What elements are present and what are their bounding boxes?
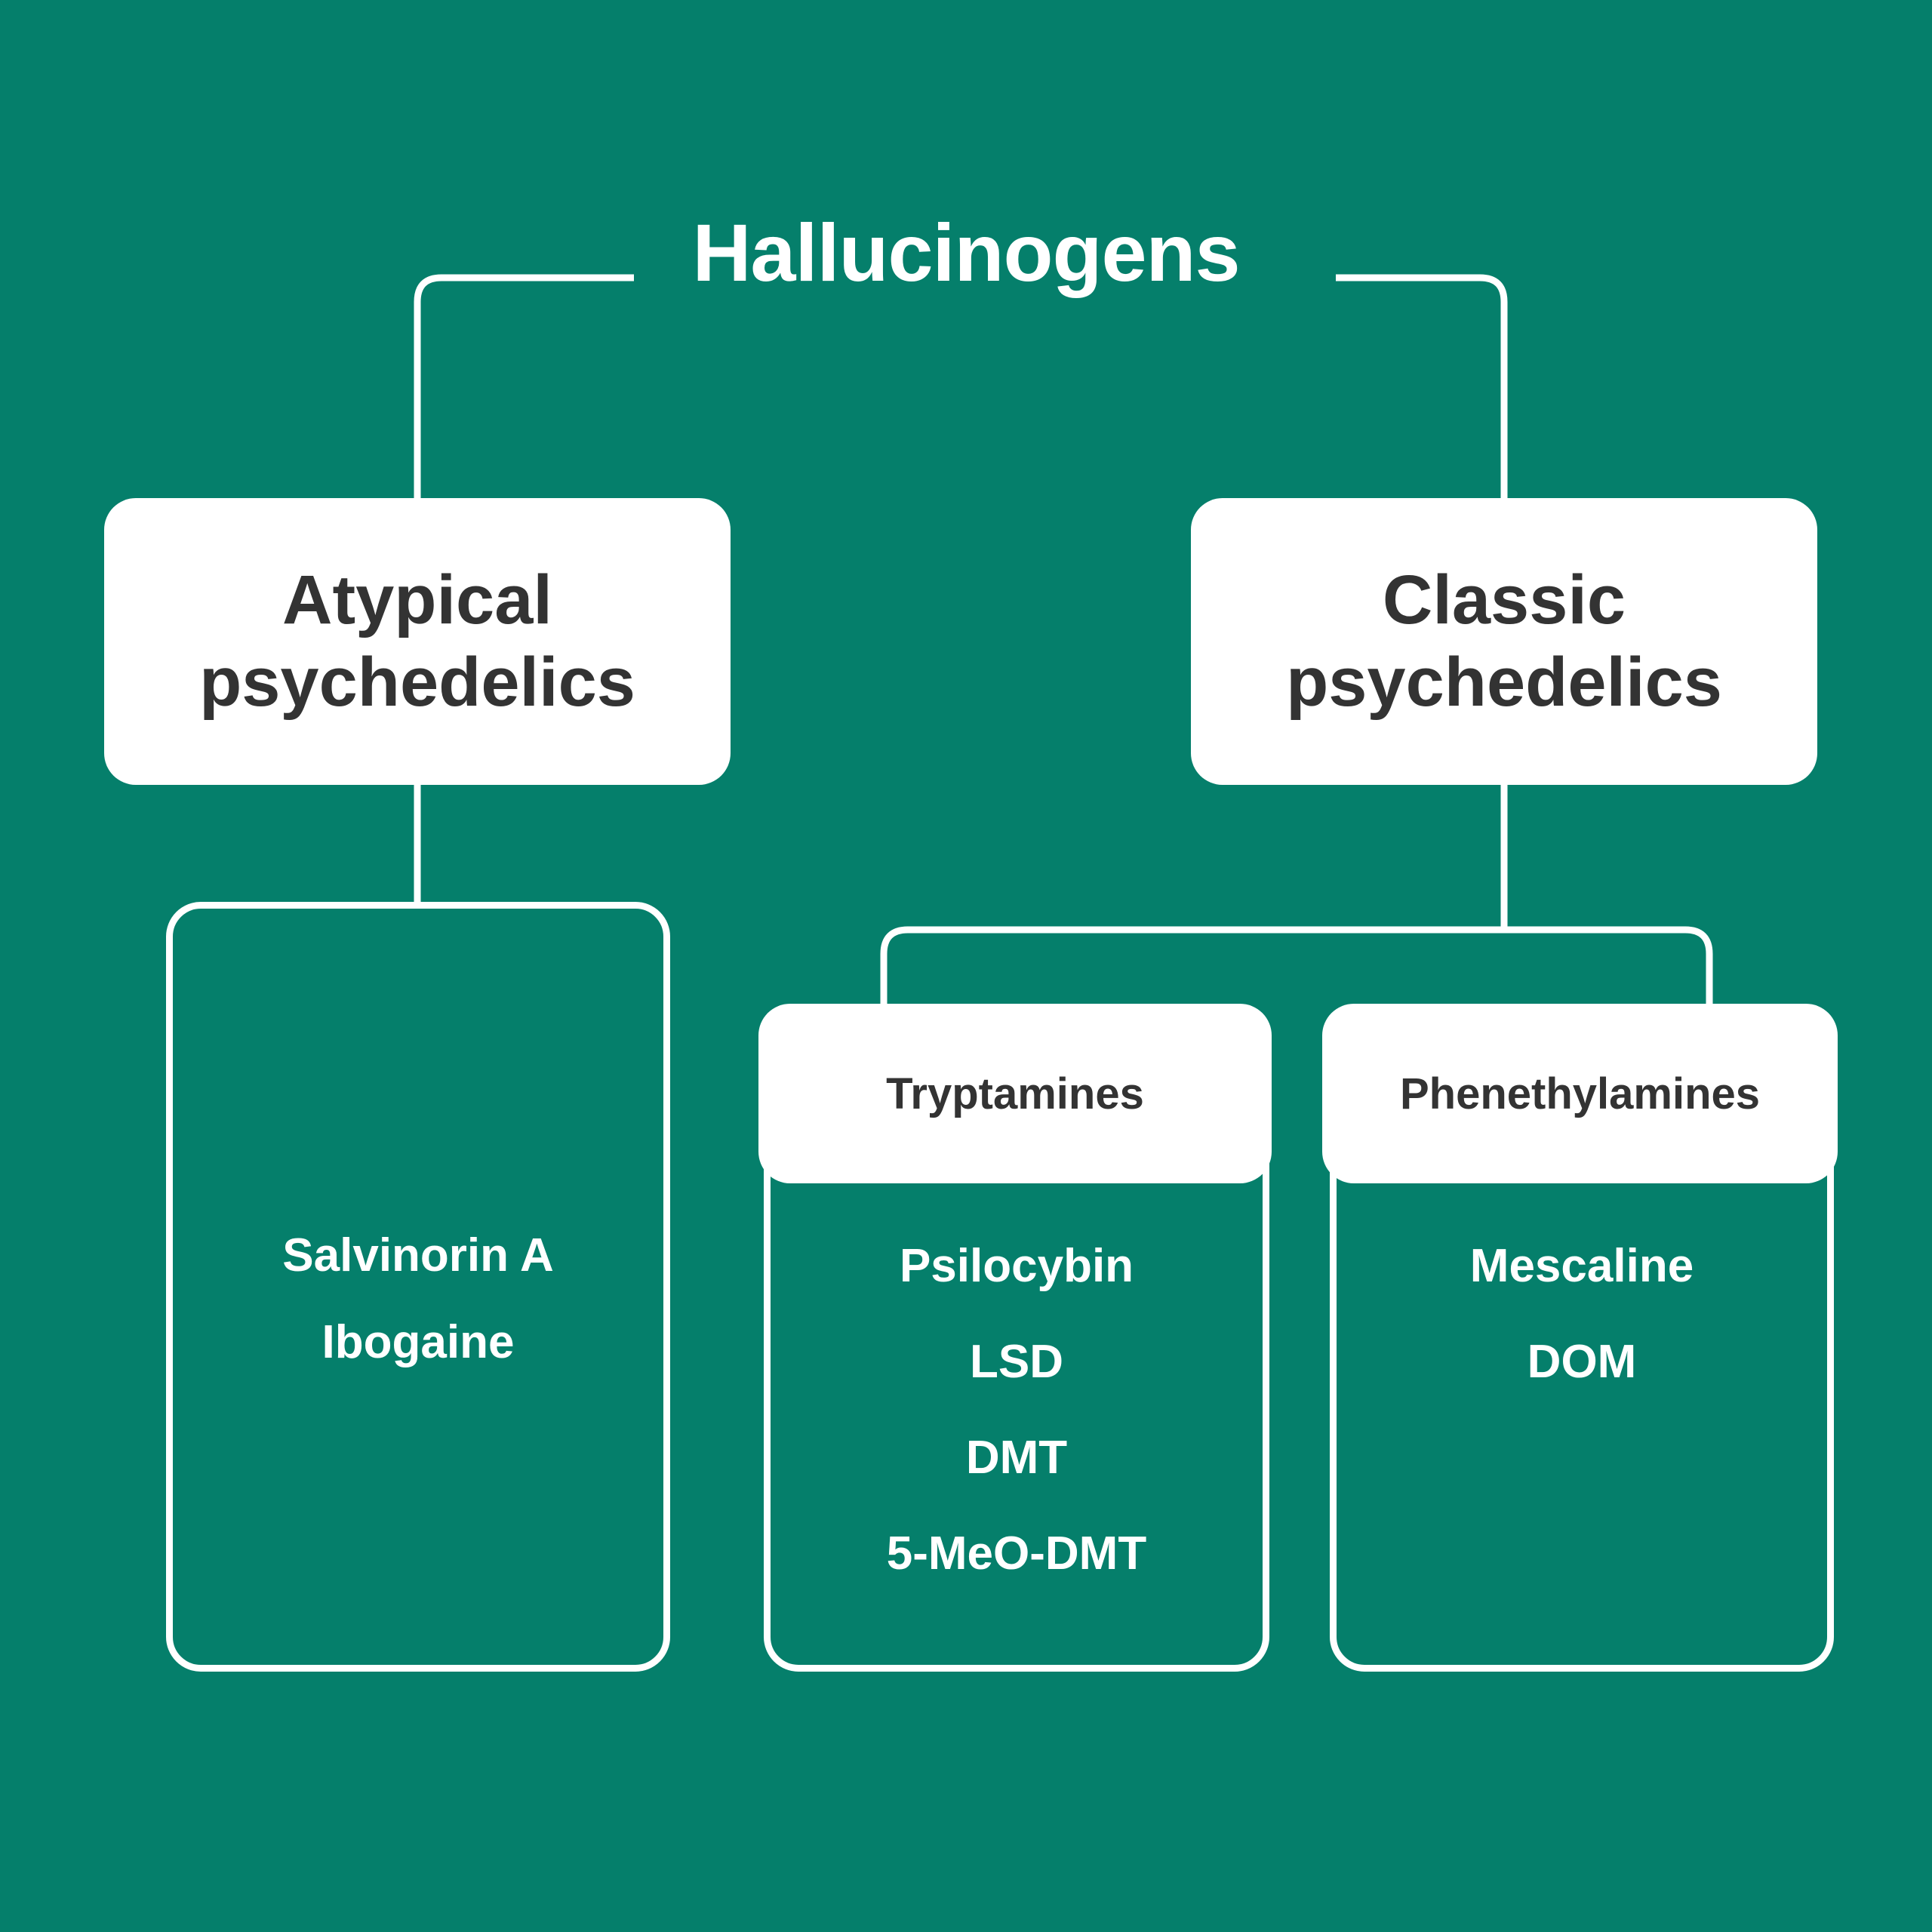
list-phenethylamines-items: Mescaline DOM	[1330, 1239, 1834, 1389]
node-tryptamines-label: Tryptamines	[886, 1069, 1144, 1119]
node-atypical-psychedelics-label: Atypical psychedelics	[124, 559, 711, 723]
node-tryptamines[interactable]: Tryptamines	[758, 1004, 1272, 1183]
connector-classic-to-tryptamines	[884, 930, 1504, 1004]
node-phenethylamines[interactable]: Phenethylamines	[1322, 1004, 1838, 1183]
list-atypical-items: Salvinorin A Ibogaine	[166, 1229, 670, 1369]
node-phenethylamines-label: Phenethylamines	[1400, 1069, 1760, 1119]
list-item: Mescaline	[1330, 1239, 1834, 1293]
list-item: DMT	[764, 1431, 1269, 1484]
page-title: Hallucinogens	[589, 210, 1343, 295]
node-classic-psychedelics[interactable]: Classic psychedelics	[1191, 498, 1817, 785]
list-tryptamines-items: Psilocybin LSD DMT 5-MeO-DMT	[764, 1239, 1269, 1580]
connector-root-to-atypical	[417, 278, 634, 498]
list-item: LSD	[764, 1335, 1269, 1389]
node-atypical-psychedelics[interactable]: Atypical psychedelics	[104, 498, 731, 785]
list-item: DOM	[1330, 1335, 1834, 1389]
list-item: 5-MeO-DMT	[764, 1527, 1269, 1580]
connector-classic-to-phenethylamines	[1504, 930, 1709, 1004]
list-item: Salvinorin A	[166, 1229, 670, 1282]
node-classic-psychedelics-label: Classic psychedelics	[1211, 559, 1798, 723]
hierarchy-diagram: Hallucinogens Atypical psychedelics Clas…	[0, 0, 1932, 1932]
list-item: Ibogaine	[166, 1315, 670, 1369]
list-item: Psilocybin	[764, 1239, 1269, 1293]
connector-root-to-classic	[1336, 278, 1504, 498]
